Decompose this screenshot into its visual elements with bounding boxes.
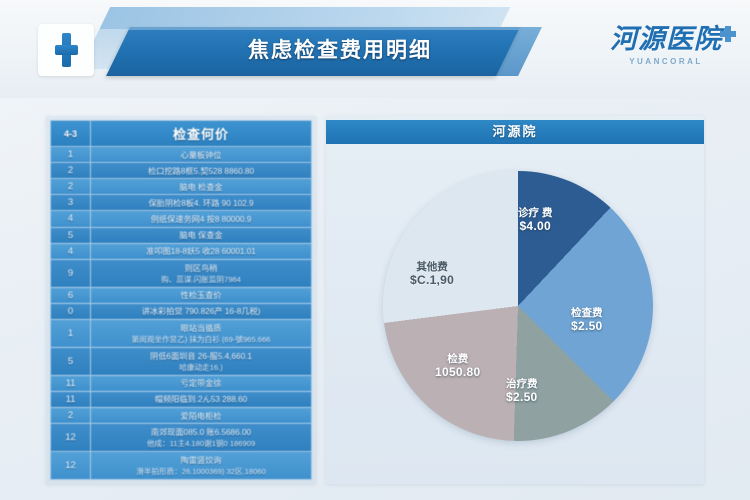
cell-index: 3 [51,195,91,211]
pie-label-slice-4-value: 1050.80 [435,366,480,379]
page-header: 焦虑检查费用明细 河源医院 YUANCORAL [0,0,750,98]
cell-item-line1: 则区鸟稍 [185,264,218,273]
table-header-row: 4-3 检查何价 [51,121,312,147]
cell-item-line1: 亏定带金徐 [181,379,222,388]
logo-name-cn: 河源医院 [592,22,740,56]
table-row: 9则区鸟稍购、蕊谋.闪胀监阴7984 [51,259,312,287]
table-row: 4例纸保速务网4 按8 80000.9 [51,211,312,227]
table-row: 12南郊现面085.0 账6.5686.00他成：11主4.180谢1钢0 18… [51,424,312,452]
cell-index: 2 [51,179,91,195]
cell-item: 保胎阴检8板4. 环路 90 102.9 [91,195,312,211]
pie-label-slice-1-name: 诊疗 费 [518,207,552,219]
cell-item: 帽频阳临到.2ん53 288.60 [91,391,312,407]
cell-item-line1: 爱陌电柜检 [181,412,222,421]
cell-index: 4 [51,211,91,227]
cell-item: 脑电 保查金 [91,227,312,243]
pie-label-slice-3: 治疗费 $2.50 [506,378,538,404]
cell-item-line1: 帽频阳临到.2ん53 288.60 [155,395,247,404]
cell-index: 12 [51,424,91,452]
cell-index: 0 [51,303,91,319]
table-row: 6性检玉查价 [51,287,312,303]
pie-label-slice-4-name: 检费 [447,353,468,365]
cell-item-line1: 心量板钟位 [181,151,222,160]
cell-item-line2: 第阅观坐作昱乙) 抹为白衫 (69-號965.666 [93,334,309,345]
column-header-item: 检查何价 [91,121,312,147]
page-title: 焦虑检查费用明细 [190,33,490,69]
cell-item-line1: 讲冰彩拍觉 790.826产 16-8几税) [142,307,261,316]
pie-label-slice-3-value: $2.50 [506,391,538,404]
cell-item-line1: 脑电 检查金 [179,183,222,192]
cell-item: 心量板钟位 [91,147,312,163]
table-row: 4准叩图18-8妖5 收28 60001.01 [51,243,312,259]
cell-index: 2 [51,163,91,179]
pie-label-slice-4: 检费 1050.80 [435,353,480,379]
cell-index: 2 [51,407,91,423]
pie-label-slice-3-name: 治疗费 [506,378,538,390]
cell-index: 1 [51,147,91,163]
table-row: 1眼站当循质第阅观坐作昱乙) 抹为白衫 (69-號965.666 [51,319,312,347]
logo-name-en: YUANCORAL [592,56,740,68]
cell-item-line1: 眼站当循质 [181,324,222,333]
cell-item-line1: 例纸保速务网4 按8 80000.9 [151,215,252,224]
header-band-light [100,7,511,29]
cell-item-line1: 检口挖路8框5.契528 8860.80 [148,167,254,176]
table-row: 5脑电 保查金 [51,227,312,243]
cell-item: 爱陌电柜检 [91,407,312,423]
pie-label-slice-2: 检查费 $2.50 [571,307,603,333]
table-row: 3保胎阴检8板4. 环路 90 102.9 [51,195,312,211]
cell-item: 陶雷竖饺询滑半拍形质：26.1000369) 32区.18060 [91,452,312,480]
fee-table-body: 1心量板钟位2检口挖路8框5.契528 8860.802脑电 检查金3保胎阴检8… [51,147,312,480]
pie-label-slice-1: 诊疗 费 $4.00 [518,207,552,233]
pie-label-slice-2-name: 检查费 [571,307,603,319]
cell-index: 11 [51,391,91,407]
cell-item: 脑电 检查金 [91,179,312,195]
cell-item: 南郊现面085.0 账6.5686.00他成：11主4.180谢1钢0 1869… [91,424,312,452]
cell-index: 5 [51,347,91,375]
pie-label-slice-2-value: $2.50 [571,320,603,333]
table-row: 2脑电 检查金 [51,179,312,195]
cell-item-line1: 南郊现面085.0 账6.5686.00 [151,428,251,437]
fee-table: 4-3 检查何价 1心量板钟位2检口挖路8框5.契528 8860.802脑电 … [50,120,312,480]
cell-item-line2: 滑半拍形质：26.1000369) 32区.18060 [93,466,309,477]
cell-item-line1: 准叩图18-8妖5 收28 60001.01 [146,247,256,256]
table-row: 11帽频阳临到.2ん53 288.60 [51,391,312,407]
cell-item: 例纸保速务网4 按8 80000.9 [91,211,312,227]
cell-item: 性检玉查价 [91,287,312,303]
cell-item: 讲冰彩拍觉 790.826产 16-8几税) [91,303,312,319]
cell-index: 11 [51,375,91,391]
cell-item: 亏定带金徐 [91,375,312,391]
cell-item-line1: 陶雷竖饺询 [181,456,222,465]
pie-label-slice-5: 其他费 $C.1,90 [410,261,454,287]
hospital-logo: 河源医院 YUANCORAL [592,22,740,84]
chart-panel: 河源院 诊疗 费 $4.00 检查费 $2.50 治疗费 $2.50 检费 10… [326,116,704,484]
pie-label-slice-5-name: 其他费 [416,261,448,273]
table-row: 0讲冰彩拍觉 790.826产 16-8几税) [51,303,312,319]
cell-index: 4 [51,243,91,259]
pie-chart: 诊疗 费 $4.00 检查费 $2.50 治疗费 $2.50 检费 1050.8… [375,163,660,460]
cell-item: 则区鸟稍购、蕊谋.闪胀监阴7984 [91,259,312,287]
cell-item-line2: 购、蕊谋.闪胀监阴7984 [93,274,309,285]
pie-label-slice-1-value: $4.00 [518,220,552,233]
cell-item-line2: 哈康动走16.) [93,362,309,373]
cell-item-line1: 阴低6面圳音 26-服5.4,660.1 [150,352,252,361]
cell-index: 9 [51,259,91,287]
cell-index: 12 [51,452,91,480]
fee-table-header: 4-3 检查何价 [51,121,312,147]
cell-item-line1: 脑电 保查金 [179,231,222,240]
column-header-index: 4-3 [51,121,91,147]
cell-item: 检口挖路8框5.契528 8860.80 [91,163,312,179]
cell-item-line1: 保胎阴检8板4. 环路 90 102.9 [148,199,253,208]
cell-item-line1: 性检玉查价 [181,291,222,300]
cell-item: 阴低6面圳音 26-服5.4,660.1哈康动走16.) [91,347,312,375]
cell-index: 1 [51,319,91,347]
table-row: 2爱陌电柜检 [51,407,312,423]
table-row: 1心量板钟位 [51,147,312,163]
table-row: 2检口挖路8框5.契528 8860.80 [51,163,312,179]
table-row: 12陶雷竖饺询滑半拍形质：26.1000369) 32区.18060 [51,452,312,480]
cell-item: 准叩图18-8妖5 收28 60001.01 [91,243,312,259]
main-stage: 4-3 检查何价 1心量板钟位2检口挖路8框5.契528 8860.802脑电 … [0,98,750,500]
cell-item: 眼站当循质第阅观坐作昱乙) 抹为白衫 (69-號965.666 [91,319,312,347]
medical-cross-icon [55,33,77,67]
table-row: 5阴低6面圳音 26-服5.4,660.1哈康动走16.) [51,347,312,375]
cell-index: 6 [51,287,91,303]
chart-title: 河源院 [326,120,704,144]
cell-index: 5 [51,227,91,243]
fee-table-panel: 4-3 检查何价 1心量板钟位2检口挖路8框5.契528 8860.802脑电 … [46,116,316,484]
cell-item-line2: 他成：11主4.180谢1钢0 186909 [93,438,309,449]
logo-cross-icon [720,26,736,42]
table-row: 11亏定带金徐 [51,375,312,391]
pie-label-slice-5-value: $C.1,90 [410,274,454,287]
